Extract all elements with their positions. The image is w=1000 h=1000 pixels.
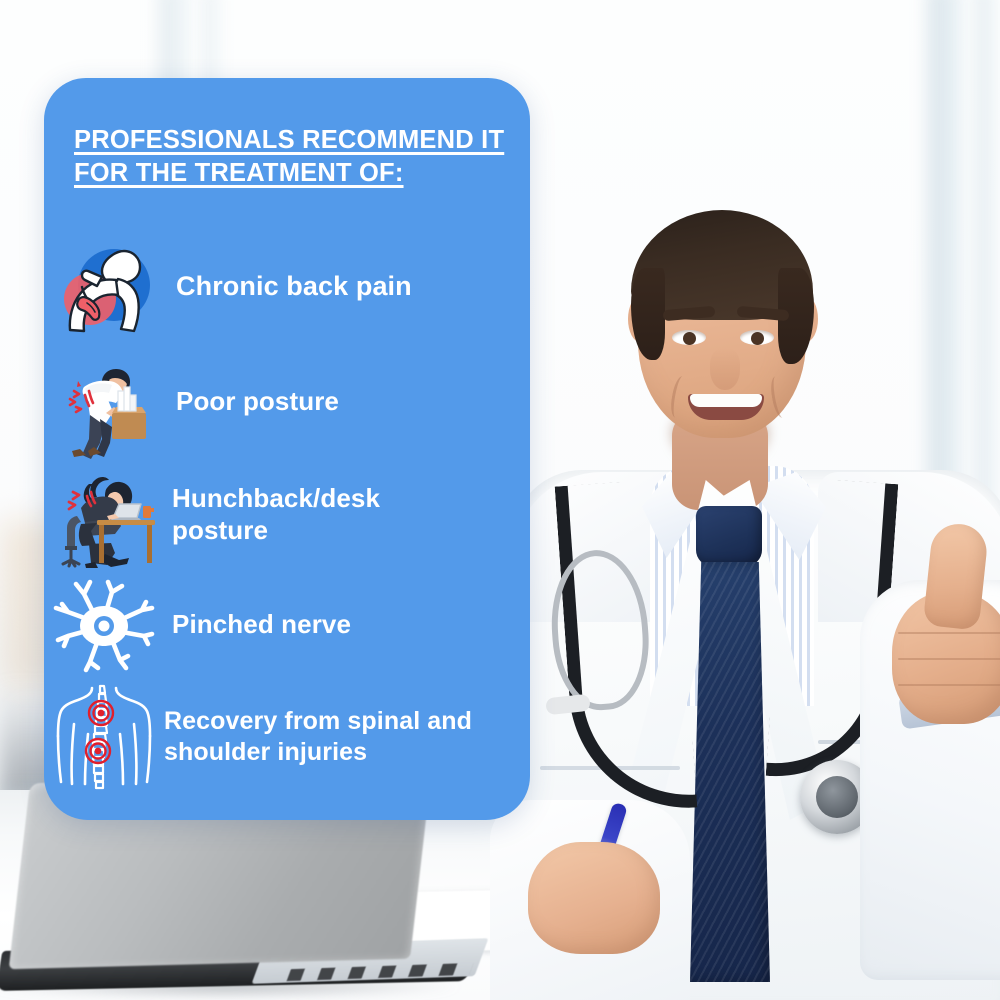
condition-label: Pinched nerve — [172, 608, 365, 640]
hair-side — [631, 268, 665, 360]
list-item: Poor posture — [44, 346, 530, 456]
spine-torso-pain-points-icon — [44, 682, 164, 792]
person-bending-lifting-box-icon — [44, 351, 164, 451]
necktie-texture — [690, 562, 770, 982]
person-holding-lower-back-icon — [44, 235, 168, 339]
condition-label: Recovery from spinal and shoulder injuri… — [164, 706, 494, 768]
list-item: Pinched nerve — [44, 572, 530, 676]
condition-label: Poor posture — [176, 385, 353, 417]
panel-headline: PROFESSIONALS RECOMMEND IT FOR THE TREAT… — [74, 124, 510, 190]
list-item: Chronic back pain — [44, 228, 530, 346]
list-item: Hunchback/desk posture — [44, 456, 530, 572]
smiling-mouth — [688, 394, 764, 420]
condition-label: Hunchback/desk posture — [172, 482, 442, 546]
teeth — [690, 394, 762, 407]
nose — [710, 348, 740, 390]
hand-holding-pen — [528, 842, 660, 954]
poster-canvas: PROFESSIONALS RECOMMEND IT FOR THE TREAT… — [0, 0, 1000, 1000]
neuron-nerve-cell-icon — [44, 578, 164, 670]
pupil — [751, 332, 764, 345]
doctor-photo-subject — [500, 180, 1000, 1000]
finger-crease — [898, 632, 1000, 634]
necktie-knot — [696, 506, 762, 566]
conditions-list: Chronic back pain — [44, 228, 530, 798]
finger-crease — [898, 684, 1000, 686]
stethoscope-chestpiece-inner — [816, 776, 858, 818]
finger-crease — [898, 658, 1000, 660]
condition-label: Chronic back pain — [176, 270, 426, 303]
woman-hunched-at-desk-icon — [44, 462, 164, 566]
treatment-info-panel: PROFESSIONALS RECOMMEND IT FOR THE TREAT… — [44, 78, 530, 820]
pupil — [683, 332, 696, 345]
list-item: Recovery from spinal and shoulder injuri… — [44, 676, 530, 798]
